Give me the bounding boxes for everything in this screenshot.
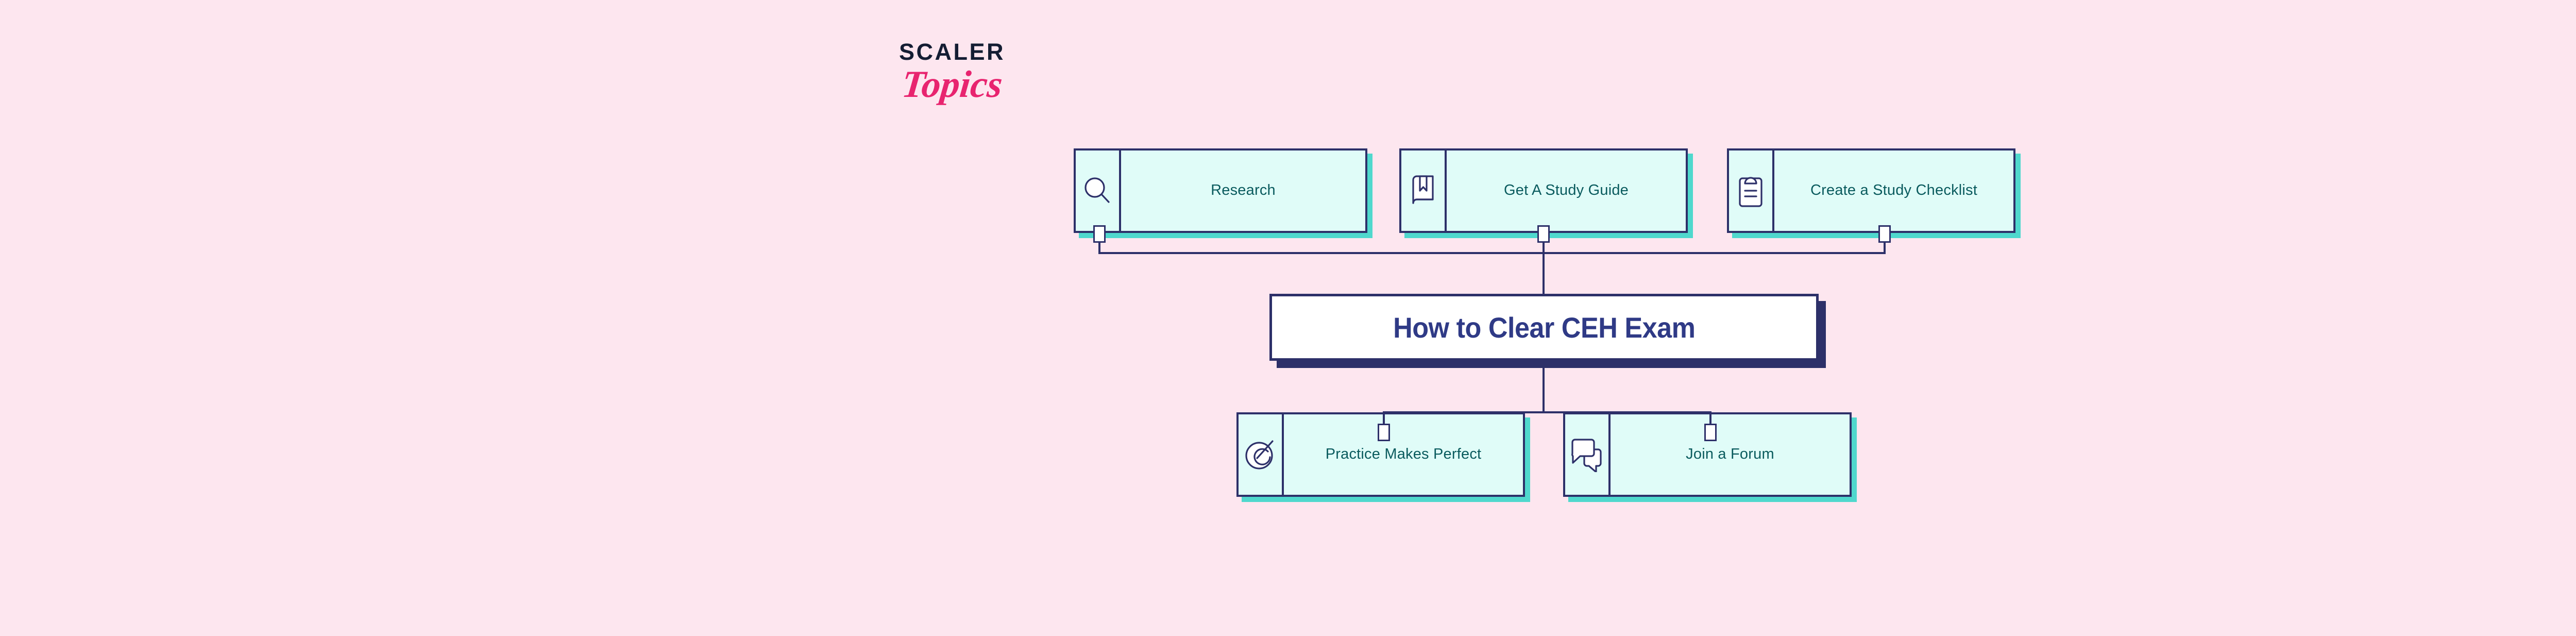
node-label-cell: Get A Study Guide: [1447, 150, 1686, 231]
node-label: Get A Study Guide: [1504, 181, 1629, 199]
connector-bottom-center-riser: [1543, 361, 1545, 412]
node-icon-cell: [1239, 414, 1284, 495]
node-center-how-to-clear-ceh-exam[interactable]: How to Clear CEH Exam: [1269, 294, 1819, 361]
node-icon-cell: [1076, 150, 1121, 231]
book-bookmark-icon: [1407, 174, 1439, 208]
node-label: Research: [1211, 181, 1276, 199]
connector-pin-forum: [1704, 424, 1717, 441]
target-icon: [1243, 438, 1277, 472]
node-study-guide[interactable]: Get A Study Guide: [1399, 148, 1688, 233]
node-research[interactable]: Research: [1074, 148, 1367, 233]
node-label: Create a Study Checklist: [1810, 181, 1977, 199]
node-study-checklist[interactable]: Create a Study Checklist: [1727, 148, 2015, 233]
node-label-cell: Join a Forum: [1611, 414, 1850, 495]
clipboard-icon: [1736, 173, 1766, 208]
node-label: Practice Makes Perfect: [1326, 445, 1482, 463]
chat-bubbles-icon: [1568, 437, 1605, 472]
node-label-cell: Practice Makes Perfect: [1284, 414, 1523, 495]
node-label-cell: Research: [1121, 150, 1365, 231]
center-title: How to Clear CEH Exam: [1393, 311, 1695, 344]
connector-bottom-bus: [1383, 411, 1711, 413]
ceh-exam-mindmap: Research Get A Study Guide: [0, 0, 2576, 636]
node-icon-cell: [1401, 150, 1447, 231]
node-icon-cell: [1565, 414, 1611, 495]
connector-pin-research: [1093, 225, 1106, 243]
node-label: Join a Forum: [1686, 445, 1774, 463]
connector-pin-study-checklist: [1878, 225, 1891, 243]
connector-pin-study-guide: [1537, 225, 1550, 243]
magnifier-icon: [1081, 175, 1113, 207]
node-label-cell: Create a Study Checklist: [1774, 150, 2013, 231]
connector-top-bus: [1098, 252, 1886, 254]
node-icon-cell: [1729, 150, 1774, 231]
connector-pin-practice: [1378, 424, 1390, 441]
